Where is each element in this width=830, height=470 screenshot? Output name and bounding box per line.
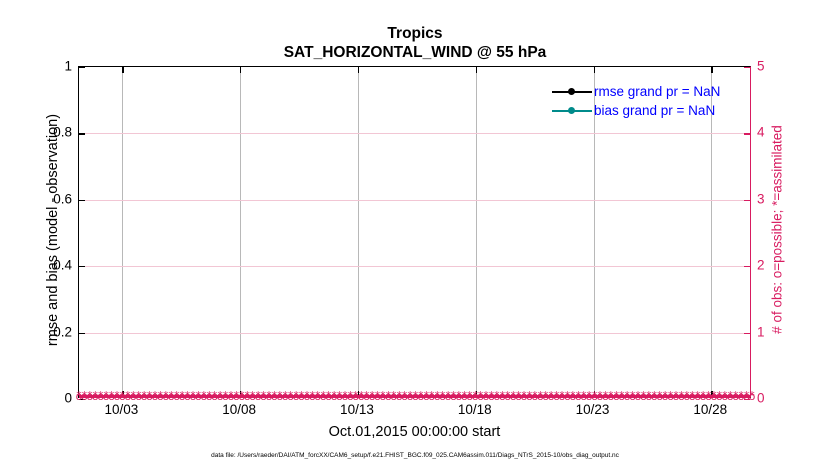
x-tick-label: 10/03 <box>105 402 139 417</box>
legend-label: rmse grand pr = NaN <box>594 84 720 99</box>
x-tick-top <box>358 67 359 73</box>
y-tick-label-left: 1 <box>64 59 72 74</box>
y-tick-label-right: 2 <box>757 258 765 273</box>
vertical-gridline <box>476 67 477 397</box>
legend-marker-icon <box>552 105 592 117</box>
y-tick-right <box>744 200 750 201</box>
y-tick-left <box>79 133 85 134</box>
x-tick-top <box>240 67 241 73</box>
y-tick-label-left: 0.6 <box>53 191 72 206</box>
legend-entry[interactable]: bias grand pr = NaN <box>552 101 742 120</box>
chart-subtitle: SAT_HORIZONTAL_WIND @ 55 hPa <box>0 43 830 62</box>
x-tick-label: 10/18 <box>458 402 492 417</box>
y-tick-label-right: 0 <box>757 391 765 406</box>
x-tick-label: 10/08 <box>222 402 256 417</box>
y-tick-left <box>79 333 85 334</box>
y-tick-right <box>744 67 750 68</box>
y-tick-label-left: 0.4 <box>53 258 72 273</box>
y-tick-label-right: 4 <box>757 125 765 140</box>
chart-title: Tropics <box>0 24 830 43</box>
y-tick-label-right: 1 <box>757 324 765 339</box>
legend: rmse grand pr = NaNbias grand pr = NaN <box>552 82 742 120</box>
legend-marker-icon <box>552 86 592 98</box>
y-tick-right <box>744 333 750 334</box>
x-tick-top <box>122 67 123 73</box>
vertical-gridline <box>240 67 241 397</box>
y-tick-left <box>79 266 85 267</box>
x-axis-label: Oct.01,2015 00:00:00 start <box>78 424 751 440</box>
y-tick-label-left: 0 <box>64 391 72 406</box>
obs-baseline <box>79 395 750 398</box>
y-tick-label-left: 0.2 <box>53 324 72 339</box>
x-tick-label: 10/23 <box>576 402 610 417</box>
horizontal-gridline <box>79 333 750 334</box>
legend-label: bias grand pr = NaN <box>594 103 715 118</box>
horizontal-gridline <box>79 266 750 267</box>
y-tick-right <box>744 133 750 134</box>
vertical-gridline <box>122 67 123 397</box>
y-tick-left <box>79 399 85 400</box>
y-tick-left <box>79 200 85 201</box>
legend-entry[interactable]: rmse grand pr = NaN <box>552 82 742 101</box>
x-tick-top <box>711 67 712 73</box>
y-tick-label-right: 5 <box>757 59 765 74</box>
horizontal-gridline <box>79 133 750 134</box>
x-tick-label: 10/13 <box>340 402 374 417</box>
horizontal-gridline <box>79 200 750 201</box>
y-tick-left <box>79 67 85 68</box>
y-tick-label-right: 3 <box>757 191 765 206</box>
y-tick-right <box>744 399 750 400</box>
vertical-gridline <box>358 67 359 397</box>
x-tick-top <box>594 67 595 73</box>
y-axis-label-right: # of obs: o=possible; *=assimilated <box>770 60 785 400</box>
y-tick-right <box>744 266 750 267</box>
data-file-path: data file: /Users/raeder/DAI/ATM_forcXX/… <box>0 452 830 459</box>
y-axis-label-left: rmse and bias (model - observation) <box>45 60 61 400</box>
obs-assimilated-marker: * <box>749 390 755 401</box>
chart-title-block: Tropics SAT_HORIZONTAL_WIND @ 55 hPa <box>0 24 830 62</box>
x-tick-top <box>476 67 477 73</box>
y-tick-label-left: 0.8 <box>53 125 72 140</box>
x-tick-label: 10/28 <box>693 402 727 417</box>
